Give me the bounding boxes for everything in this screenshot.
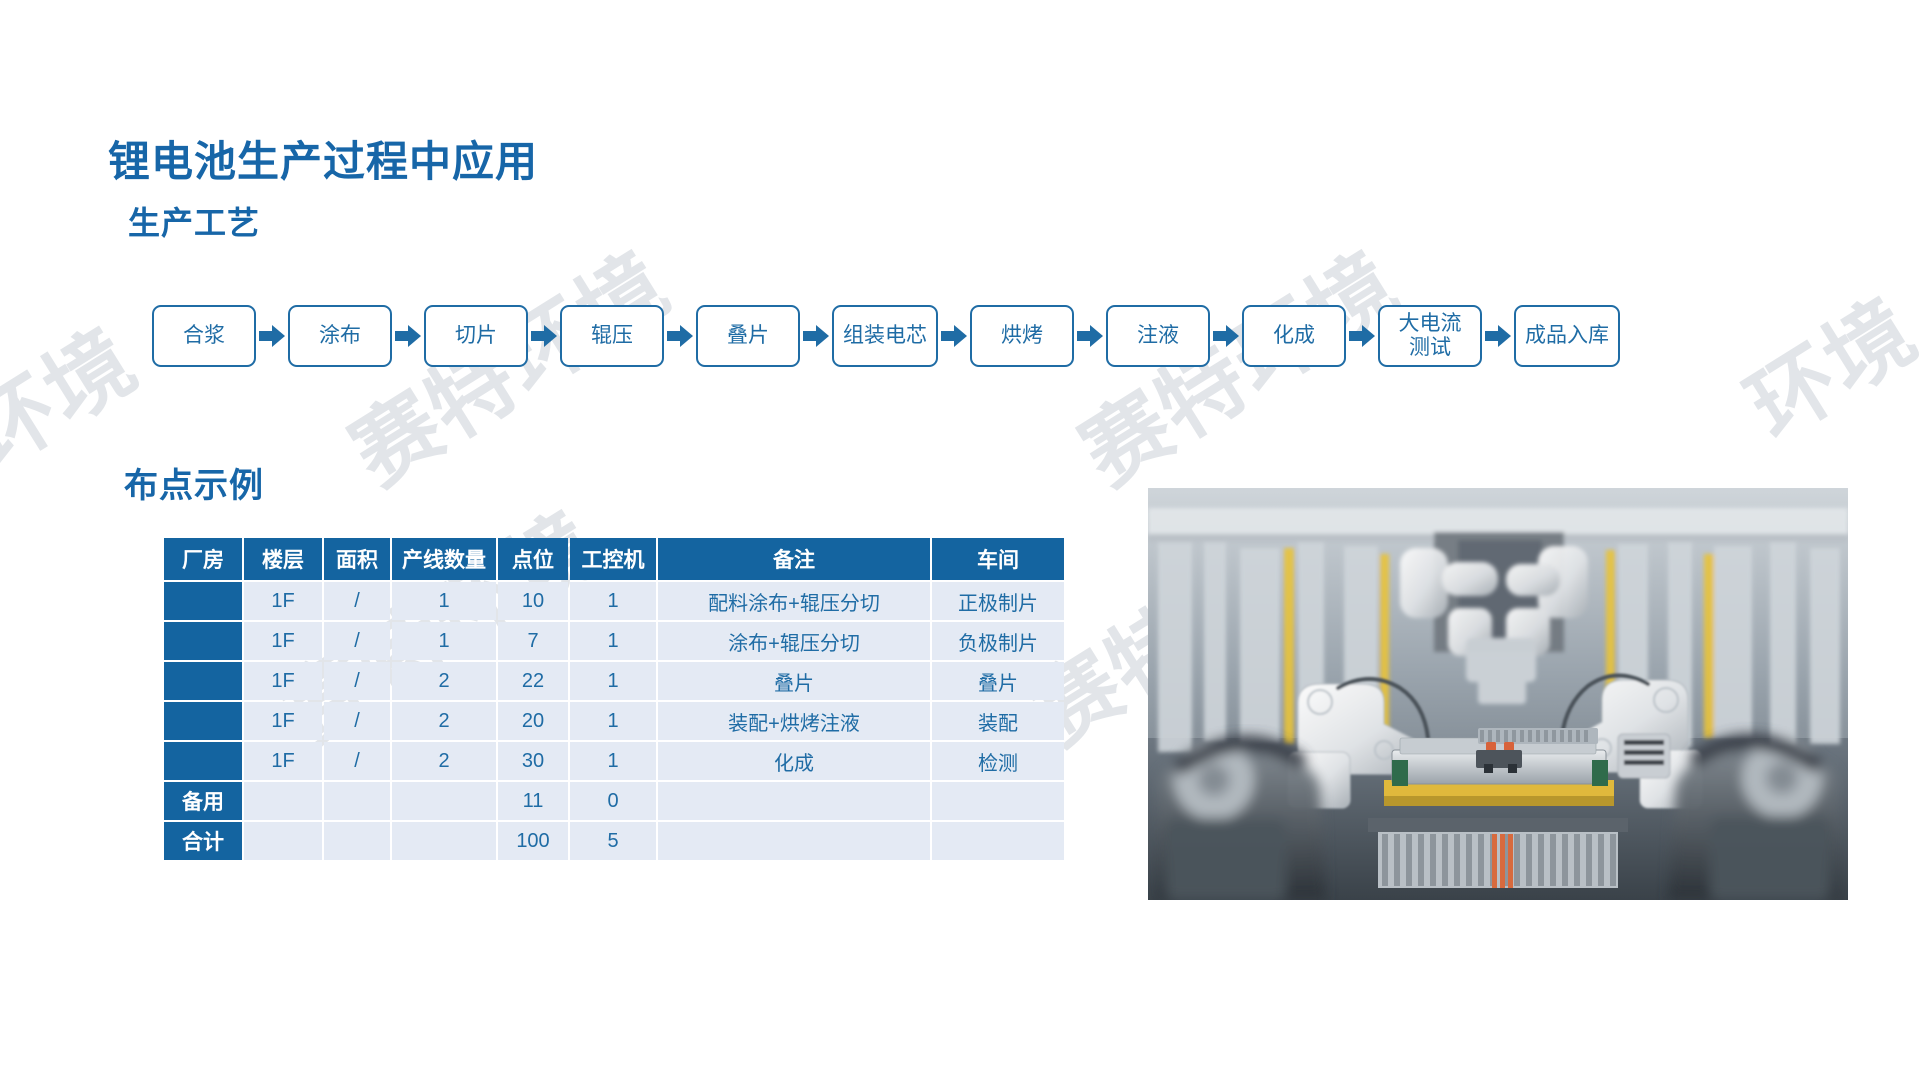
table-cell <box>324 782 390 820</box>
production-line-photo-graphic <box>1148 488 1848 900</box>
table-cell: 1 <box>570 702 656 740</box>
flow-arrow-icon <box>664 321 696 351</box>
flow-node-8[interactable]: 注液 <box>1106 305 1210 367</box>
table-cell: / <box>324 622 390 660</box>
table-row[interactable]: 1F/2201装配+烘烤注液装配 <box>164 702 1064 740</box>
table-cell <box>164 742 242 780</box>
flow-node-7[interactable]: 烘烤 <box>970 305 1074 367</box>
table-cell: 10 <box>498 582 568 620</box>
table-row[interactable]: 1F/171涂布+辊压分切负极制片 <box>164 622 1064 660</box>
table-cell: 100 <box>498 822 568 860</box>
table-cell: 22 <box>498 662 568 700</box>
table-cell <box>658 782 930 820</box>
flow-node-9[interactable]: 化成 <box>1242 305 1346 367</box>
table-cell: 1F <box>244 702 322 740</box>
flow-arrow-icon <box>1346 321 1378 351</box>
table-row[interactable]: 合计1005 <box>164 822 1064 860</box>
flow-node-6[interactable]: 组装电芯 <box>832 305 938 367</box>
table-cell: 20 <box>498 702 568 740</box>
flow-arrow-icon <box>528 321 560 351</box>
right-arrow-icon <box>803 325 829 347</box>
right-arrow-icon <box>1349 325 1375 347</box>
table-cell <box>392 822 496 860</box>
table-cell <box>324 822 390 860</box>
table-cell: 1 <box>570 582 656 620</box>
right-arrow-icon <box>667 325 693 347</box>
flow-node-label: 涂布 <box>319 324 361 348</box>
flow-node-label: 辊压 <box>591 324 633 348</box>
table-header-cell: 工控机 <box>570 538 656 580</box>
table-cell <box>244 822 322 860</box>
flow-node-label: 烘烤 <box>1001 324 1043 348</box>
table-cell: 1 <box>392 622 496 660</box>
table-cell <box>164 622 242 660</box>
flow-node-label: 组装电芯 <box>843 324 927 348</box>
table-row[interactable]: 1F/2221叠片叠片 <box>164 662 1064 700</box>
table-header-row: 厂房楼层面积产线数量点位工控机备注车间 <box>164 538 1064 580</box>
page-title: 锂电池生产过程中应用 <box>108 128 538 189</box>
table-cell: / <box>324 702 390 740</box>
table-cell: 涂布+辊压分切 <box>658 622 930 660</box>
table-cell: 合计 <box>164 822 242 860</box>
flow-node-11[interactable]: 成品入库 <box>1514 305 1620 367</box>
table-cell: 30 <box>498 742 568 780</box>
table-cell: 5 <box>570 822 656 860</box>
table-header-cell: 备注 <box>658 538 930 580</box>
table-cell: 2 <box>392 742 496 780</box>
flow-arrow-icon <box>800 321 832 351</box>
table-cell: 1F <box>244 742 322 780</box>
table-cell: 2 <box>392 702 496 740</box>
slide-canvas: 环境赛特环境赛特环境环境赛特环境赛特环境 锂电池生产过程中应用 生产工艺 布点示… <box>0 0 1920 1080</box>
table-header-cell: 产线数量 <box>392 538 496 580</box>
right-arrow-icon <box>941 325 967 347</box>
flow-node-label: 成品入库 <box>1525 324 1609 348</box>
watermark-text: 环境 <box>1720 263 1920 462</box>
table-cell: 化成 <box>658 742 930 780</box>
flow-arrow-icon <box>1482 321 1514 351</box>
table-cell: 1 <box>392 582 496 620</box>
right-arrow-icon <box>259 325 285 347</box>
process-flow-diagram: 合浆涂布切片辊压叠片组装电芯烘烤注液化成大电流测试成品入库 <box>152 305 1620 367</box>
flow-node-label: 化成 <box>1273 324 1315 348</box>
table-cell: / <box>324 582 390 620</box>
table-cell: 装配+烘烤注液 <box>658 702 930 740</box>
table-row[interactable]: 备用110 <box>164 782 1064 820</box>
flow-node-10[interactable]: 大电流测试 <box>1378 305 1482 367</box>
table-cell: 1 <box>570 662 656 700</box>
flow-arrow-icon <box>1210 321 1242 351</box>
table-row[interactable]: 1F/1101配料涂布+辊压分切正极制片 <box>164 582 1064 620</box>
table-cell: / <box>324 742 390 780</box>
table-cell <box>164 662 242 700</box>
table-cell: 1F <box>244 622 322 660</box>
flow-node-label: 叠片 <box>727 324 769 348</box>
right-arrow-icon <box>1485 325 1511 347</box>
production-line-photo <box>1148 488 1848 900</box>
table-cell: 1 <box>570 742 656 780</box>
right-arrow-icon <box>1077 325 1103 347</box>
table-header-cell: 厂房 <box>164 538 242 580</box>
table-cell: 叠片 <box>932 662 1064 700</box>
table-cell: 备用 <box>164 782 242 820</box>
table-cell: 1F <box>244 582 322 620</box>
flow-node-label: 注液 <box>1137 324 1179 348</box>
table-cell: 1 <box>570 622 656 660</box>
right-arrow-icon <box>1213 325 1239 347</box>
table-cell: 正极制片 <box>932 582 1064 620</box>
deployment-table: 厂房楼层面积产线数量点位工控机备注车间 1F/1101配料涂布+辊压分切正极制片… <box>162 536 1066 862</box>
right-arrow-icon <box>531 325 557 347</box>
table-cell <box>164 702 242 740</box>
table-cell <box>244 782 322 820</box>
table-row[interactable]: 1F/2301化成检测 <box>164 742 1064 780</box>
flow-node-label: 切片 <box>455 324 497 348</box>
flow-node-3[interactable]: 切片 <box>424 305 528 367</box>
table-cell: 0 <box>570 782 656 820</box>
section-title: 布点示例 <box>124 458 264 507</box>
page-subtitle: 生产工艺 <box>128 198 260 244</box>
table-header-cell: 面积 <box>324 538 390 580</box>
flow-node-1[interactable]: 合浆 <box>152 305 256 367</box>
table-header-cell: 楼层 <box>244 538 322 580</box>
table-header-cell: 车间 <box>932 538 1064 580</box>
table-cell: / <box>324 662 390 700</box>
table-cell: 配料涂布+辊压分切 <box>658 582 930 620</box>
table-cell: 11 <box>498 782 568 820</box>
table-cell <box>392 782 496 820</box>
table-cell: 2 <box>392 662 496 700</box>
table-cell <box>164 582 242 620</box>
table-header-cell: 点位 <box>498 538 568 580</box>
flow-node-label: 大电流测试 <box>1389 312 1471 360</box>
flow-arrow-icon <box>392 321 424 351</box>
flow-node-5[interactable]: 叠片 <box>696 305 800 367</box>
table-cell: 检测 <box>932 742 1064 780</box>
table-cell <box>658 822 930 860</box>
right-arrow-icon <box>395 325 421 347</box>
flow-node-4[interactable]: 辊压 <box>560 305 664 367</box>
flow-arrow-icon <box>938 321 970 351</box>
table-cell: 7 <box>498 622 568 660</box>
flow-arrow-icon <box>256 321 288 351</box>
table-cell: 装配 <box>932 702 1064 740</box>
flow-arrow-icon <box>1074 321 1106 351</box>
table-cell: 1F <box>244 662 322 700</box>
table-cell <box>932 782 1064 820</box>
flow-node-2[interactable]: 涂布 <box>288 305 392 367</box>
table-cell <box>932 822 1064 860</box>
flow-node-label: 合浆 <box>183 324 225 348</box>
deployment-table-wrapper: 厂房楼层面积产线数量点位工控机备注车间 1F/1101配料涂布+辊压分切正极制片… <box>162 536 1066 862</box>
table-cell: 负极制片 <box>932 622 1064 660</box>
table-cell: 叠片 <box>658 662 930 700</box>
